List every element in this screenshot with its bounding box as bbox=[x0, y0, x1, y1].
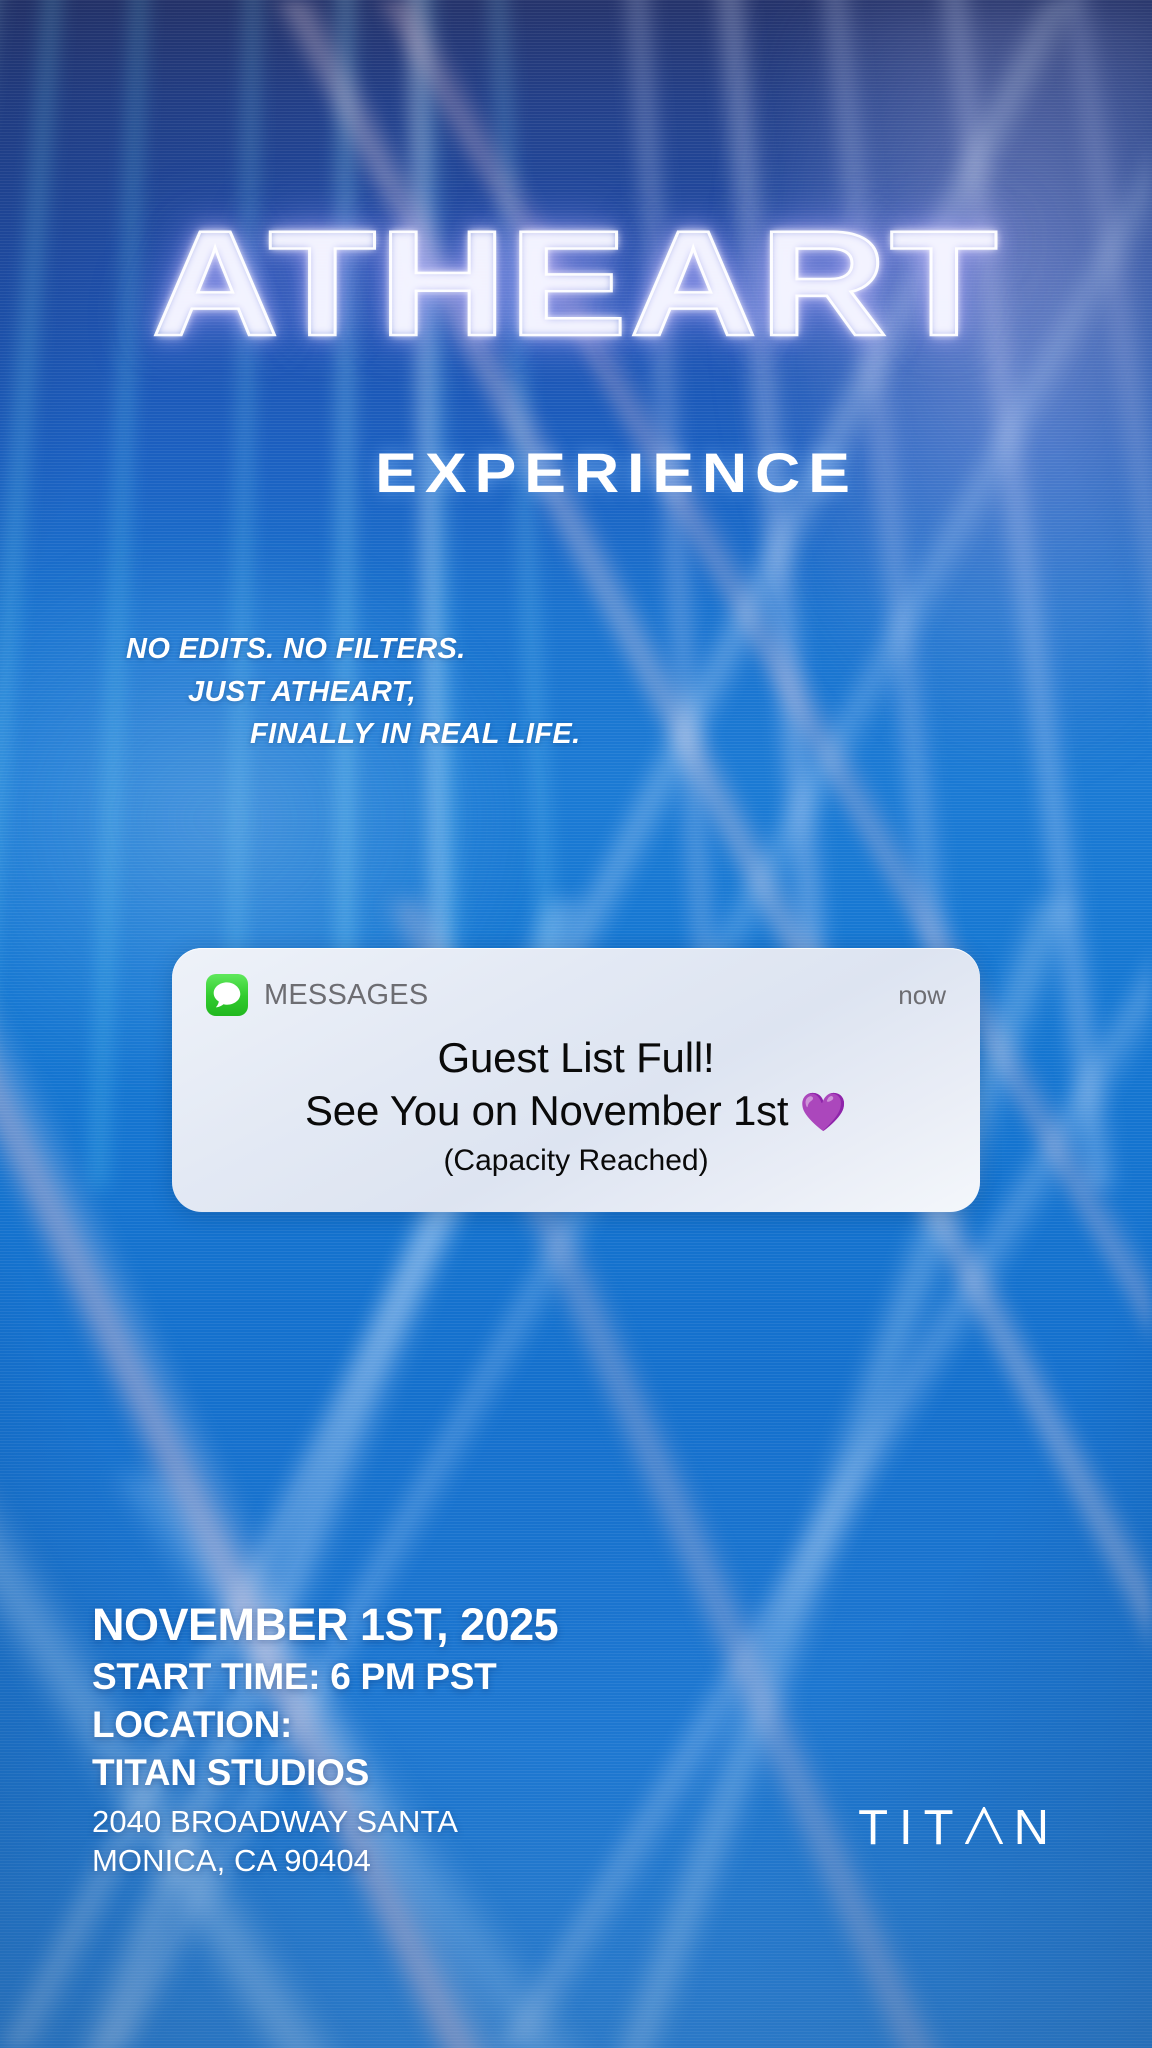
notification-subheadline: See You on November 1st 💜 bbox=[206, 1085, 946, 1138]
poster-canvas: ATHEART EXPERIENCE NO EDITS. NO FILTERS.… bbox=[0, 0, 1152, 2048]
notification-headline: Guest List Full! bbox=[206, 1032, 946, 1085]
titan-logo-letter-t2: T bbox=[924, 1800, 965, 1856]
event-details: NOVEMBER 1ST, 2025 START TIME: 6 PM PST … bbox=[92, 1600, 558, 1880]
page-subtitle: EXPERIENCE bbox=[375, 440, 858, 505]
subtitle-block: EXPERIENCE bbox=[0, 440, 1152, 505]
notification-app-name: MESSAGES bbox=[264, 979, 428, 1012]
notification-note: (Capacity Reached) bbox=[206, 1140, 946, 1183]
tagline-line-1: NO EDITS. NO FILTERS. bbox=[126, 628, 581, 671]
event-date: NOVEMBER 1ST, 2025 bbox=[92, 1600, 558, 1650]
titan-logo-letter-n: N bbox=[1014, 1800, 1060, 1856]
titan-logo-letter-t1: T bbox=[858, 1800, 899, 1856]
notification-body: Guest List Full! See You on November 1st… bbox=[206, 1032, 946, 1182]
event-location-label: LOCATION: bbox=[92, 1701, 558, 1749]
purple-heart-icon: 💜 bbox=[800, 1092, 847, 1134]
title-block: ATHEART bbox=[0, 222, 1152, 345]
event-venue: TITAN STUDIOS bbox=[92, 1749, 558, 1797]
titan-logo-letter-i: I bbox=[899, 1800, 924, 1856]
titan-logo-letter-a bbox=[965, 1807, 1003, 1844]
event-start-time: START TIME: 6 PM PST bbox=[92, 1653, 558, 1701]
page-title: ATHEART bbox=[152, 222, 1001, 345]
event-address-line-1: 2040 BROADWAY SANTA bbox=[92, 1802, 558, 1841]
event-address-line-2: MONICA, CA 90404 bbox=[92, 1841, 558, 1880]
tagline-line-3: FINALLY IN REAL LIFE. bbox=[126, 713, 581, 756]
tagline: NO EDITS. NO FILTERS. JUST ATHEART, FINA… bbox=[126, 628, 581, 756]
notification-timestamp: now bbox=[898, 980, 946, 1011]
notification-card[interactable]: MESSAGES now Guest List Full! See You on… bbox=[172, 948, 980, 1212]
messages-bubble-icon bbox=[206, 974, 248, 1016]
tagline-line-2: JUST ATHEART, bbox=[126, 671, 581, 714]
notification-subheadline-text: See You on November 1st bbox=[305, 1087, 788, 1134]
titan-logo: TITN bbox=[858, 1800, 1060, 1856]
notification-header: MESSAGES now bbox=[206, 974, 946, 1016]
